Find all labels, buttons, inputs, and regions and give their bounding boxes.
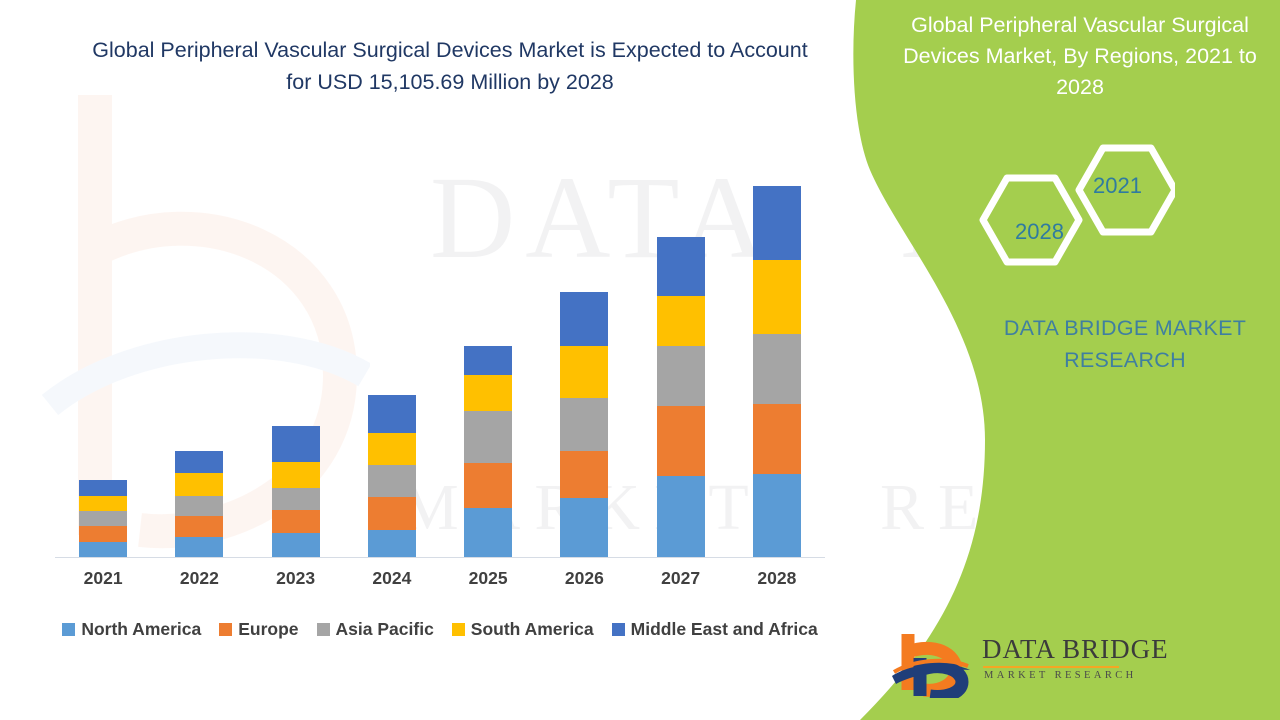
x-axis-label: 2023 (248, 568, 344, 589)
bar-segment[interactable] (272, 462, 320, 488)
bar-segment[interactable] (657, 406, 705, 476)
bar-group (151, 451, 247, 558)
hexagon-year-group: 2021 2028 (975, 140, 1175, 270)
bar-segment[interactable] (657, 476, 705, 558)
stacked-bar[interactable] (560, 292, 608, 558)
bar-segment[interactable] (368, 395, 416, 433)
x-axis-label: 2028 (729, 568, 825, 589)
bar-segment[interactable] (464, 508, 512, 558)
bar-group (344, 395, 440, 558)
legend-swatch-icon (452, 623, 465, 636)
stacked-bar[interactable] (657, 237, 705, 558)
bar-segment[interactable] (272, 426, 320, 462)
bar-segment[interactable] (272, 533, 320, 558)
hexagon-2021-label: 2021 (1093, 173, 1142, 199)
bar-segment[interactable] (175, 473, 223, 496)
bar-segment[interactable] (753, 404, 801, 474)
bar-segment[interactable] (560, 498, 608, 558)
x-axis-label: 2025 (440, 568, 536, 589)
legend-swatch-icon (612, 623, 625, 636)
stacked-bar[interactable] (368, 395, 416, 558)
bar-segment[interactable] (272, 488, 320, 510)
legend-item[interactable]: Europe (219, 619, 298, 640)
legend-item[interactable]: South America (452, 619, 594, 640)
x-axis-tick-labels: 20212022202320242025202620272028 (55, 568, 825, 596)
legend-label: Asia Pacific (336, 619, 434, 640)
bar-segment[interactable] (464, 411, 512, 463)
bar-segment[interactable] (175, 496, 223, 516)
bar-segment[interactable] (272, 510, 320, 533)
bar-group (729, 186, 825, 558)
page-title: Global Peripheral Vascular Surgical Devi… (80, 34, 820, 98)
bar-segment[interactable] (560, 292, 608, 346)
stacked-bar[interactable] (272, 426, 320, 558)
bar-segment[interactable] (79, 496, 127, 511)
bar-segment[interactable] (464, 463, 512, 508)
bar-segment[interactable] (753, 260, 801, 334)
bar-segment[interactable] (175, 516, 223, 537)
hexagon-2028-label: 2028 (1015, 219, 1064, 245)
legend-item[interactable]: Asia Pacific (317, 619, 434, 640)
stacked-bar-plot (55, 150, 825, 558)
legend-label: North America (81, 619, 201, 640)
stacked-bar[interactable] (753, 186, 801, 558)
legend-item[interactable]: Middle East and Africa (612, 619, 818, 640)
legend-label: Middle East and Africa (631, 619, 818, 640)
stacked-bar[interactable] (175, 451, 223, 558)
brand-name-text: DATA BRIDGE MARKET RESEARCH (960, 312, 1280, 376)
logo-subtitle: MARKET RESEARCH (984, 670, 1137, 681)
chart-area: Global Peripheral Vascular Surgical Devi… (0, 0, 860, 720)
bar-segment[interactable] (753, 186, 801, 260)
bar-group (633, 237, 729, 558)
x-axis-label: 2021 (55, 568, 151, 589)
bar-segment[interactable] (657, 237, 705, 296)
bar-segment[interactable] (753, 334, 801, 404)
hexagon-icons (975, 140, 1175, 270)
legend-swatch-icon (62, 623, 75, 636)
bar-segment[interactable] (175, 451, 223, 473)
x-axis-label: 2027 (633, 568, 729, 589)
bar-group (248, 426, 344, 558)
bar-segment[interactable] (368, 465, 416, 497)
right-panel-title: Global Peripheral Vascular Surgical Devi… (880, 10, 1280, 103)
bar-segment[interactable] (657, 346, 705, 406)
bar-segment[interactable] (560, 346, 608, 398)
logo-mark-icon (890, 630, 978, 698)
bar-segment[interactable] (464, 375, 512, 411)
bar-segment[interactable] (560, 398, 608, 451)
legend-swatch-icon (317, 623, 330, 636)
x-axis-label: 2022 (151, 568, 247, 589)
x-axis-line (55, 557, 825, 558)
bar-segment[interactable] (368, 497, 416, 530)
bar-segment[interactable] (368, 433, 416, 465)
x-axis-label: 2026 (536, 568, 632, 589)
data-bridge-logo: DATA BRIDGE MARKET RESEARCH (890, 630, 1120, 700)
bar-segment[interactable] (560, 451, 608, 498)
chart-legend: North AmericaEuropeAsia PacificSouth Ame… (55, 616, 825, 642)
logo-divider (983, 666, 1119, 668)
bar-group (55, 480, 151, 558)
legend-label: South America (471, 619, 594, 640)
bar-segment[interactable] (657, 296, 705, 346)
bar-group (440, 346, 536, 558)
bar-segment[interactable] (79, 511, 127, 526)
logo-title: DATA BRIDGE (982, 634, 1169, 665)
stacked-bar[interactable] (79, 480, 127, 558)
x-axis-label: 2024 (344, 568, 440, 589)
bar-segment[interactable] (753, 474, 801, 558)
legend-swatch-icon (219, 623, 232, 636)
bar-segment[interactable] (79, 542, 127, 558)
bar-segment[interactable] (368, 530, 416, 558)
legend-item[interactable]: North America (62, 619, 201, 640)
bar-segment[interactable] (79, 526, 127, 542)
bar-group (536, 292, 632, 558)
stacked-bar[interactable] (464, 346, 512, 558)
legend-label: Europe (238, 619, 298, 640)
bar-segment[interactable] (79, 480, 127, 496)
bar-segment[interactable] (464, 346, 512, 375)
bar-segment[interactable] (175, 537, 223, 558)
